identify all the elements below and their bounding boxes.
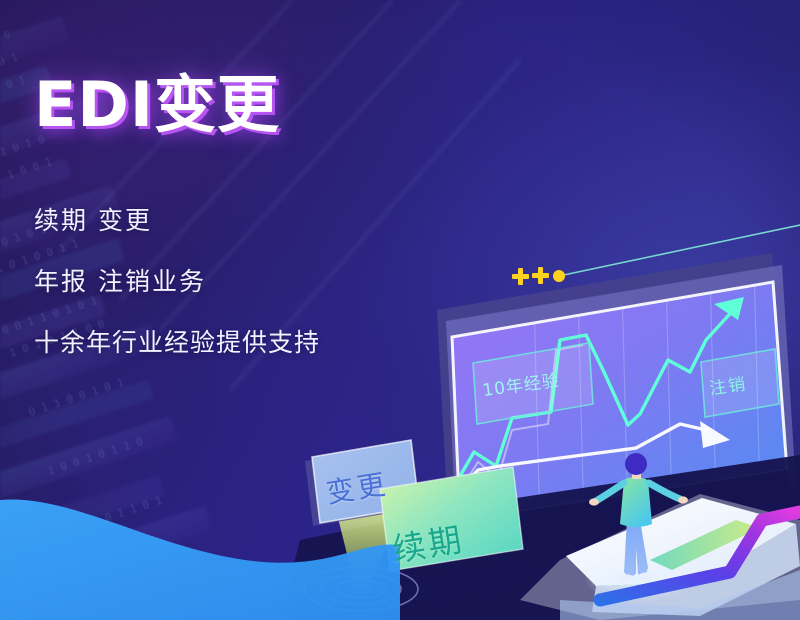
- subtitle-line-3: 十余年行业经验提供支持: [34, 323, 464, 359]
- subtitle-line-2: 年报 注销业务: [34, 262, 464, 298]
- banner-root: 1 0 1 1 0 0 1 0 0 0 1 0 1 1 0 1 1 1 0 0 …: [0, 0, 800, 620]
- page-title: EDI变更: [34, 72, 464, 139]
- text-block: EDI变更 续期 变更 年报 注销业务 十余年行业经验提供支持: [34, 72, 464, 359]
- subtitle-line-1: 续期 变更: [34, 201, 464, 237]
